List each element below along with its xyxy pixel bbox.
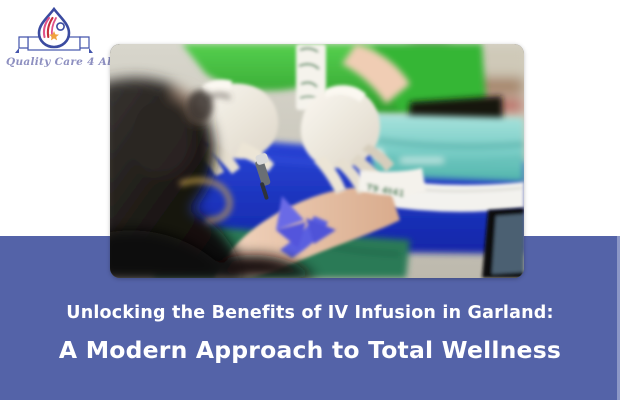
headline-block: Unlocking the Benefits of IV Infusion in… <box>0 300 620 368</box>
blog-banner: Quality Care 4 All <box>0 0 620 400</box>
logo-tagline: Quality Care 4 All <box>6 56 102 68</box>
iv-infusion-photo: Ta4t <box>110 44 524 278</box>
site-logo[interactable]: Quality Care 4 All <box>6 6 102 80</box>
headline-line-2: A Modern Approach to Total Wellness <box>0 332 620 368</box>
iv-infusion-photo-card: Ta4t <box>110 44 524 278</box>
headline-line-1: Unlocking the Benefits of IV Infusion in… <box>0 300 620 326</box>
flame-droplet-banner-icon <box>6 6 102 58</box>
